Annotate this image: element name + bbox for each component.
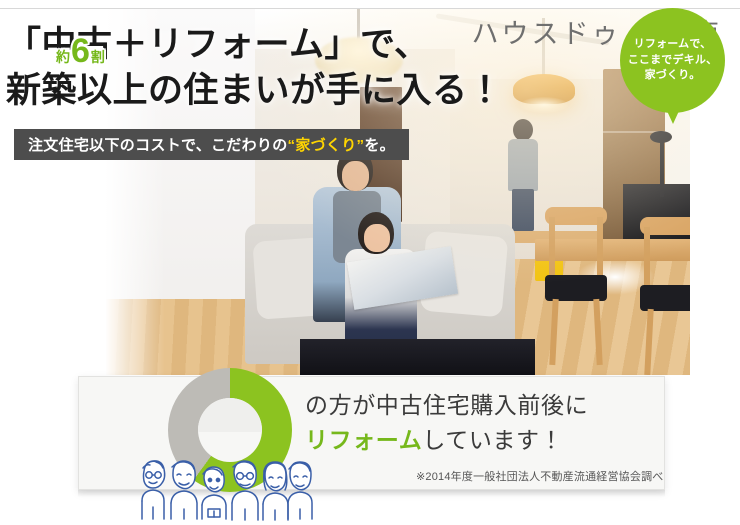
- photo-father-face: [342, 161, 369, 191]
- photo-desk-lamp-arm: [660, 139, 664, 197]
- photo-person-body: [508, 139, 538, 191]
- bubble-line-3: 家づくり。: [645, 68, 701, 84]
- chair-leg-left: [644, 309, 653, 375]
- bubble-line-1: リフォームで、: [634, 37, 712, 53]
- stat-line-2: リフォームしています！: [305, 423, 588, 458]
- statistics-text: の方が中古住宅購入前後に リフォームしています！: [305, 388, 588, 457]
- photo-pendant-glow: [520, 97, 568, 113]
- person-icon-2: [171, 461, 197, 519]
- photo-coffee-table: [300, 339, 535, 375]
- stat-line-2-rest: しています！: [422, 427, 563, 453]
- donut-value: 6: [71, 36, 90, 67]
- subtitle-before: 注文住宅以下のコストで、こだわりの: [28, 134, 288, 155]
- photo-person-head: [513, 119, 533, 141]
- person-icon-3: [202, 467, 226, 519]
- person-icon-5: [263, 462, 288, 520]
- stat-line-1: の方が中古住宅購入前後に: [305, 388, 588, 423]
- person-icon-1: [142, 461, 165, 519]
- bubble-line-2: ここまでデキル、: [628, 53, 718, 69]
- chair-seat-cushion: [545, 275, 607, 301]
- chair-leg-left: [549, 299, 558, 365]
- chair-seat-cushion: [640, 285, 690, 311]
- person-icon-4: [232, 461, 258, 520]
- donut-value-label: 約 6 割: [56, 36, 105, 67]
- people-group-icon: [138, 455, 314, 521]
- speech-bubble: リフォームで、 ここまでデキル、 家づくり。: [620, 8, 725, 113]
- donut-suffix: 割: [91, 47, 105, 67]
- photo-person-legs: [512, 189, 534, 231]
- chair-post-left: [644, 227, 650, 289]
- banner-root: ハウスドゥ 中地南 リフォームで、 ここまでデキル、 家づくり。 「中古＋リフォ…: [0, 0, 740, 525]
- chair-post-right: [597, 217, 603, 279]
- person-icon-6: [288, 462, 312, 519]
- subtitle-highlight: “家づくり”: [288, 134, 365, 155]
- stat-line-2-emphasis: リフォーム: [305, 427, 422, 453]
- subtitle-after: を。: [364, 134, 395, 155]
- photo-desk-lamp-head: [650, 131, 672, 143]
- headline-line-2: 新築以上の住まいが手に入る！: [6, 68, 503, 114]
- chair-post-left: [549, 217, 555, 279]
- source-footnote: ※2014年度一般社団法人不動産流通経営協会調べ: [416, 468, 664, 484]
- photo-dining-chair-2: [640, 217, 690, 375]
- subtitle-bar: 注文住宅以下のコストで、こだわりの “家づくり” を。: [14, 129, 409, 160]
- donut-prefix: 約: [56, 47, 70, 67]
- photo-dining-chair-1: [545, 207, 607, 367]
- chair-leg-right: [593, 299, 602, 365]
- photo-person-kitchen: [508, 119, 538, 224]
- photo-daughter-face: [364, 224, 390, 252]
- people-illustration: [138, 455, 314, 521]
